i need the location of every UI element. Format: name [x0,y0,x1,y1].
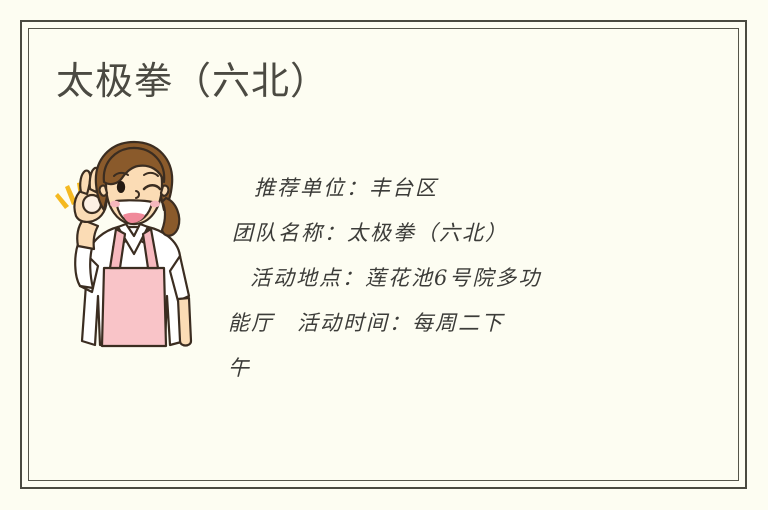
activity-info-block: 推荐单位：丰台区 团队名称：太极拳（六北） 活动地点：莲花池6号院多功 能厅 活… [228,166,624,391]
info-line-activity-time-cont: 午 [228,346,624,391]
info-line-team-name: 团队名称：太极拳（六北） [228,211,624,256]
info-line-activity-time: 能厅 活动时间：每周二下 [228,301,624,346]
page-title: 太极拳（六北） [56,58,329,106]
info-line-recommending-unit: 推荐单位：丰台区 [228,166,624,211]
cartoon-woman-ok-gesture-illustration [52,136,210,356]
info-line-activity-place: 活动地点：莲花池6号院多功 [228,256,624,301]
poster-card: 太极拳（六北） [0,0,768,510]
